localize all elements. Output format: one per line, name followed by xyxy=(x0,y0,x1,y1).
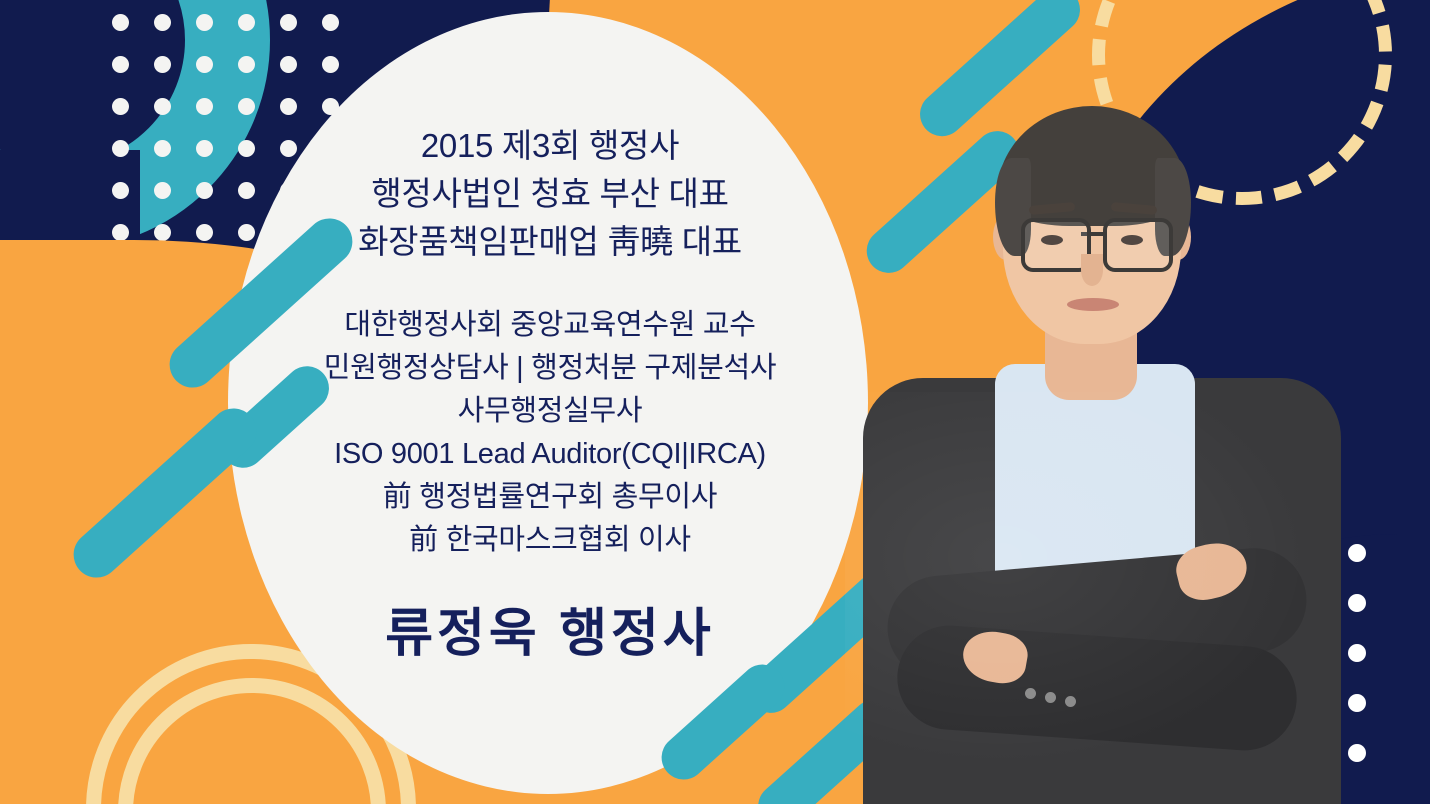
heading-group: 2015 제3회 행정사 행정사법인 청효 부산 대표 화장품책임판매업 靑曉 … xyxy=(358,122,742,266)
detail-line-6: 前 한국마스크협회 이사 xyxy=(324,519,777,562)
detail-line-4: ISO 9001 Lead Auditor(CQI|IRCA) xyxy=(324,433,777,476)
detail-line-5: 前 행정법률연구회 총무이사 xyxy=(324,476,777,519)
mouth xyxy=(1067,298,1119,311)
glasses-lens-right xyxy=(1103,218,1173,272)
details-group: 대한행정사회 중앙교육연수원 교수 민원행정상담사 | 행정처분 구제분석사 사… xyxy=(324,304,777,562)
text-block: 2015 제3회 행정사 행정사법인 청효 부산 대표 화장품책임판매업 靑曉 … xyxy=(250,0,850,804)
poster-canvas: 2015 제3회 행정사 행정사법인 청효 부산 대표 화장품책임판매업 靑曉 … xyxy=(0,0,1430,804)
detail-line-2: 민원행정상담사 | 행정처분 구제분석사 xyxy=(324,347,777,390)
heading-line-3: 화장품책임판매업 靑曉 대표 xyxy=(358,218,742,266)
detail-line-1: 대한행정사회 중앙교육연수원 교수 xyxy=(324,304,777,347)
portrait-shading xyxy=(845,392,1365,804)
heading-line-2: 행정사법인 청효 부산 대표 xyxy=(358,170,742,218)
person-name: 류정욱 행정사 xyxy=(385,604,715,664)
detail-line-3: 사무행정실무사 xyxy=(324,390,777,433)
nose xyxy=(1081,254,1103,286)
portrait-figure xyxy=(845,92,1365,804)
heading-line-1: 2015 제3회 행정사 xyxy=(358,122,742,170)
